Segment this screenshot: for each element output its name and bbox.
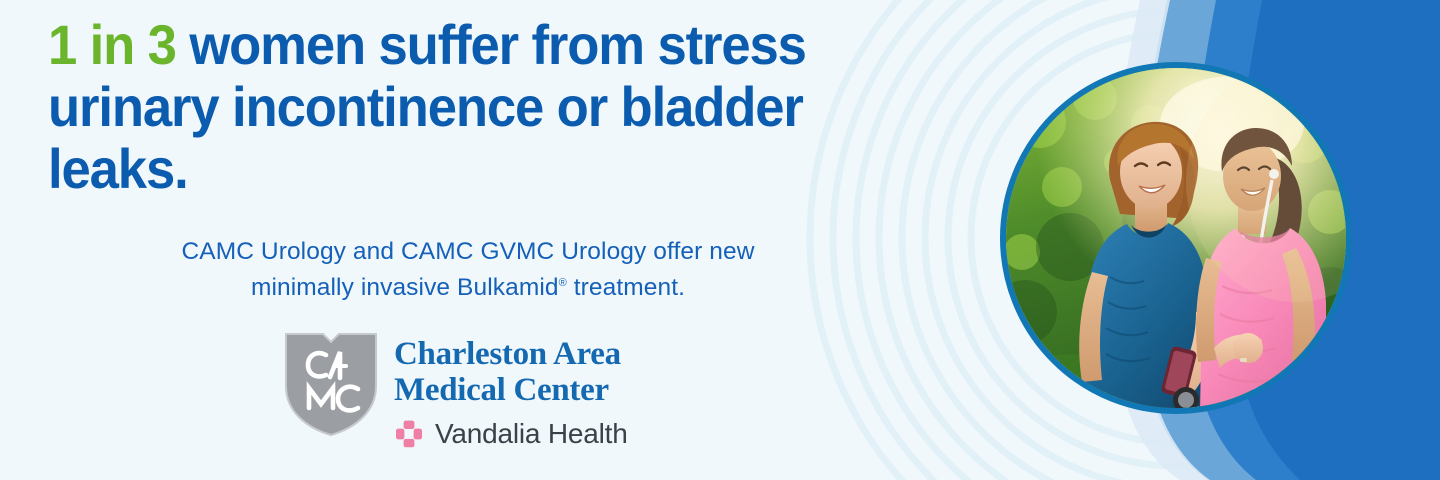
hero-photo	[1000, 62, 1352, 414]
shield-shape	[286, 334, 376, 435]
headline-line3: leaks.	[48, 137, 188, 200]
content-column: 1 in 3 women suffer from stress urinary …	[0, 0, 980, 480]
promo-banner: 1 in 3 women suffer from stress urinary …	[0, 0, 1440, 480]
camc-shield-icon	[283, 328, 379, 438]
parent-brand: Vandalia Health	[394, 418, 628, 450]
logo-lockup: Charleston Area Medical Center Vandalia …	[283, 328, 663, 458]
headline-line2: urinary incontinence or bladder	[48, 75, 803, 138]
registered-trademark-symbol: ®	[559, 277, 567, 289]
parent-brand-name: Vandalia Health	[435, 418, 628, 450]
headline-accent: 1 in 3	[48, 13, 176, 76]
subheading-line1: CAMC Urology and CAMC GVMC Urology offer…	[181, 238, 754, 265]
organization-name: Charleston Area Medical Center	[394, 336, 621, 408]
subheading-line2-before: minimally invasive Bulkamid	[251, 274, 559, 301]
organization-line1: Charleston Area	[394, 336, 621, 372]
vandalia-pinwheel-icon	[394, 419, 424, 449]
subheading: CAMC Urology and CAMC GVMC Urology offer…	[48, 234, 888, 306]
page-title: 1 in 3 women suffer from stress urinary …	[48, 14, 894, 200]
hero-photo-image	[1000, 62, 1352, 414]
headline-line1-rest: women suffer from stress	[176, 13, 806, 76]
organization-line2: Medical Center	[394, 372, 609, 408]
subheading-line2-after: treatment.	[567, 274, 685, 301]
